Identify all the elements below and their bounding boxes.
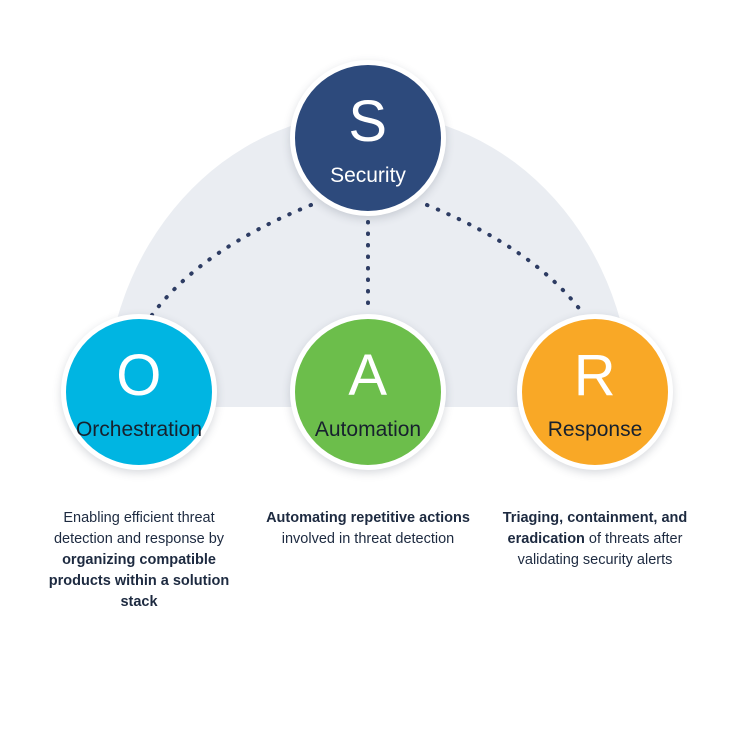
caption-automation-plain: involved in threat detection (282, 531, 455, 547)
node-response-label: Response (548, 419, 643, 440)
caption-automation: Automating repetitive actions involved i… (263, 508, 473, 550)
node-orchestration[interactable]: O Orchestration (61, 314, 217, 470)
node-security-glyph: S (348, 93, 387, 151)
caption-orchestration: Enabling efficient threat detection and … (34, 508, 244, 613)
caption-automation-bold: Automating repetitive actions (266, 510, 470, 526)
soar-diagram: S Security O Orchestration A Automation … (0, 0, 737, 732)
connector-security-to-orchestration (152, 205, 311, 315)
node-response[interactable]: R Response (517, 314, 673, 470)
node-orchestration-label: Orchestration (76, 419, 202, 440)
node-response-glyph: R (574, 347, 616, 405)
node-automation[interactable]: A Automation (290, 314, 446, 470)
node-security-label: Security (330, 165, 406, 186)
caption-response: Triaging, containment, and eradication o… (490, 508, 700, 571)
caption-orchestration-bold: organizing compatible products within a … (49, 552, 229, 610)
caption-orchestration-plain: Enabling efficient threat detection and … (54, 510, 224, 547)
node-automation-glyph: A (348, 347, 387, 405)
node-security[interactable]: S Security (290, 60, 446, 216)
connector-security-to-response (427, 205, 584, 315)
node-orchestration-glyph: O (116, 347, 162, 405)
node-automation-label: Automation (315, 419, 421, 440)
